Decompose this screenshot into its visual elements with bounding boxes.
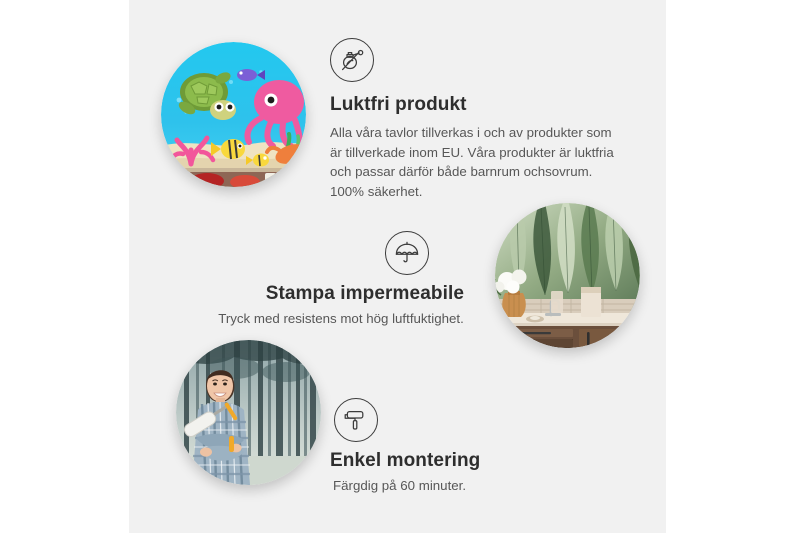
feature-headline: Enkel montering: [330, 450, 560, 472]
feature-headline: Stampa impermeabile: [215, 283, 467, 305]
no-fragrance-icon: [330, 38, 374, 82]
feature-image-installer: [176, 340, 321, 485]
feature-block-waterproof: Stampa impermeabile Tryck med resistens …: [215, 231, 467, 326]
feature-image-underwater: [161, 42, 306, 187]
feature-body: Färgdig på 60 minuter.: [330, 478, 560, 493]
feature-block-easy-mount: Enkel montering Färgdig på 60 minuter.: [330, 398, 560, 493]
promo-banner: Luktfri produkt Alla våra tavlor tillver…: [0, 0, 800, 533]
paint-roller-icon: [334, 398, 378, 442]
feature-block-odourless: Luktfri produkt Alla våra tavlor tillver…: [330, 38, 630, 201]
feature-body: Alla våra tavlor tillverkas i och av pro…: [330, 123, 618, 201]
feature-headline: Luktfri produkt: [330, 94, 630, 116]
umbrella-icon: [385, 231, 429, 275]
feature-body: Tryck med resistens mot hög luftfuktighe…: [215, 311, 467, 326]
feature-image-bathroom: [495, 203, 640, 348]
